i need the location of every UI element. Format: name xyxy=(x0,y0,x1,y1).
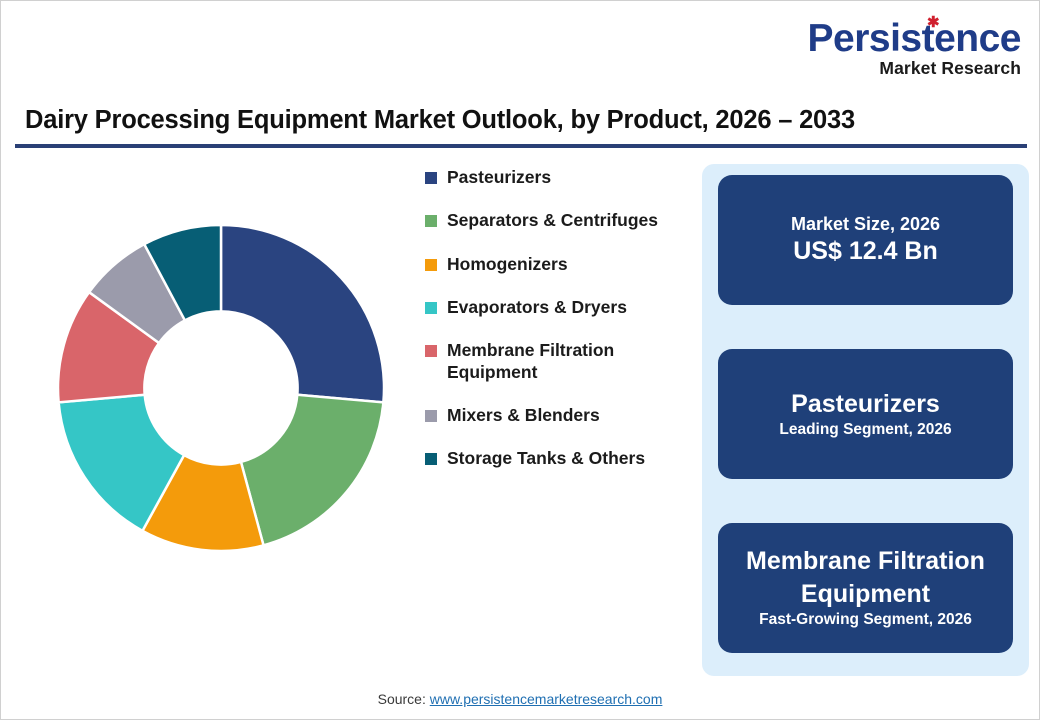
source-link[interactable]: www.persistencemarketresearch.com xyxy=(430,691,663,707)
legend-item-label: Homogenizers xyxy=(447,254,568,275)
legend-swatch-icon xyxy=(425,259,437,271)
kpi-card-leading-segment[interactable]: Pasteurizers Leading Segment, 2026 xyxy=(718,349,1013,479)
legend-swatch-icon xyxy=(425,215,437,227)
brand-name-text: Persistence xyxy=(808,17,1021,60)
legend-swatch-icon xyxy=(425,410,437,422)
brand-tagline: Market Research xyxy=(808,60,1021,78)
kpi-market-size-caption: Market Size, 2026 xyxy=(791,213,940,236)
kpi-card-fast-growing-segment[interactable]: Membrane Filtration Equipment Fast-Growi… xyxy=(718,523,1013,653)
kpi-card-market-size[interactable]: Market Size, 2026 US$ 12.4 Bn xyxy=(718,175,1013,305)
kpi-market-size-value: US$ 12.4 Bn xyxy=(793,236,938,267)
legend-item-evaporators-dryers[interactable]: Evaporators & Dryers xyxy=(425,297,693,318)
kpi-panel: Market Size, 2026 US$ 12.4 Bn Pasteurize… xyxy=(702,164,1029,676)
legend-item-label: Pasteurizers xyxy=(447,167,551,188)
kpi-leading-segment-name: Pasteurizers xyxy=(791,388,940,421)
legend-item-separators-centrifuges[interactable]: Separators & Centrifuges xyxy=(425,210,693,231)
donut-slice[interactable] xyxy=(221,225,384,402)
legend-item-label: Membrane Filtration Equipment xyxy=(447,340,693,383)
legend-swatch-icon xyxy=(425,302,437,314)
legend-swatch-icon xyxy=(425,345,437,357)
legend-item-membrane-filtration-equipment[interactable]: Membrane Filtration Equipment xyxy=(425,340,693,383)
title-divider xyxy=(15,144,1027,148)
infographic-canvas: Persistence ✱ Market Research Dairy Proc… xyxy=(0,0,1040,720)
kpi-fast-growing-segment-name: Membrane Filtration Equipment xyxy=(718,545,1013,610)
source-label: Source: xyxy=(378,691,430,707)
legend-item-homogenizers[interactable]: Homogenizers xyxy=(425,254,693,275)
legend-item-pasteurizers[interactable]: Pasteurizers xyxy=(425,167,693,188)
donut-chart xyxy=(43,206,403,574)
kpi-leading-segment-caption: Leading Segment, 2026 xyxy=(779,420,951,440)
donut-slice[interactable] xyxy=(241,395,383,546)
legend-item-storage-tanks-others[interactable]: Storage Tanks & Others xyxy=(425,448,693,469)
brand-star-icon: ✱ xyxy=(927,16,940,29)
legend-item-mixers-blenders[interactable]: Mixers & Blenders xyxy=(425,405,693,426)
legend-swatch-icon xyxy=(425,172,437,184)
page-title: Dairy Processing Equipment Market Outloo… xyxy=(25,106,855,135)
kpi-fast-growing-segment-caption: Fast-Growing Segment, 2026 xyxy=(759,610,972,630)
chart-legend: Pasteurizers Separators & Centrifuges Ho… xyxy=(425,167,693,492)
legend-item-label: Separators & Centrifuges xyxy=(447,210,658,231)
source-footer: Source: www.persistencemarketresearch.co… xyxy=(1,691,1039,707)
donut-chart-svg xyxy=(43,206,403,574)
legend-item-label: Mixers & Blenders xyxy=(447,405,600,426)
legend-swatch-icon xyxy=(425,453,437,465)
legend-item-label: Evaporators & Dryers xyxy=(447,297,627,318)
brand-logo: Persistence ✱ Market Research xyxy=(808,19,1021,78)
brand-name: Persistence ✱ xyxy=(808,19,1021,58)
legend-item-label: Storage Tanks & Others xyxy=(447,448,645,469)
